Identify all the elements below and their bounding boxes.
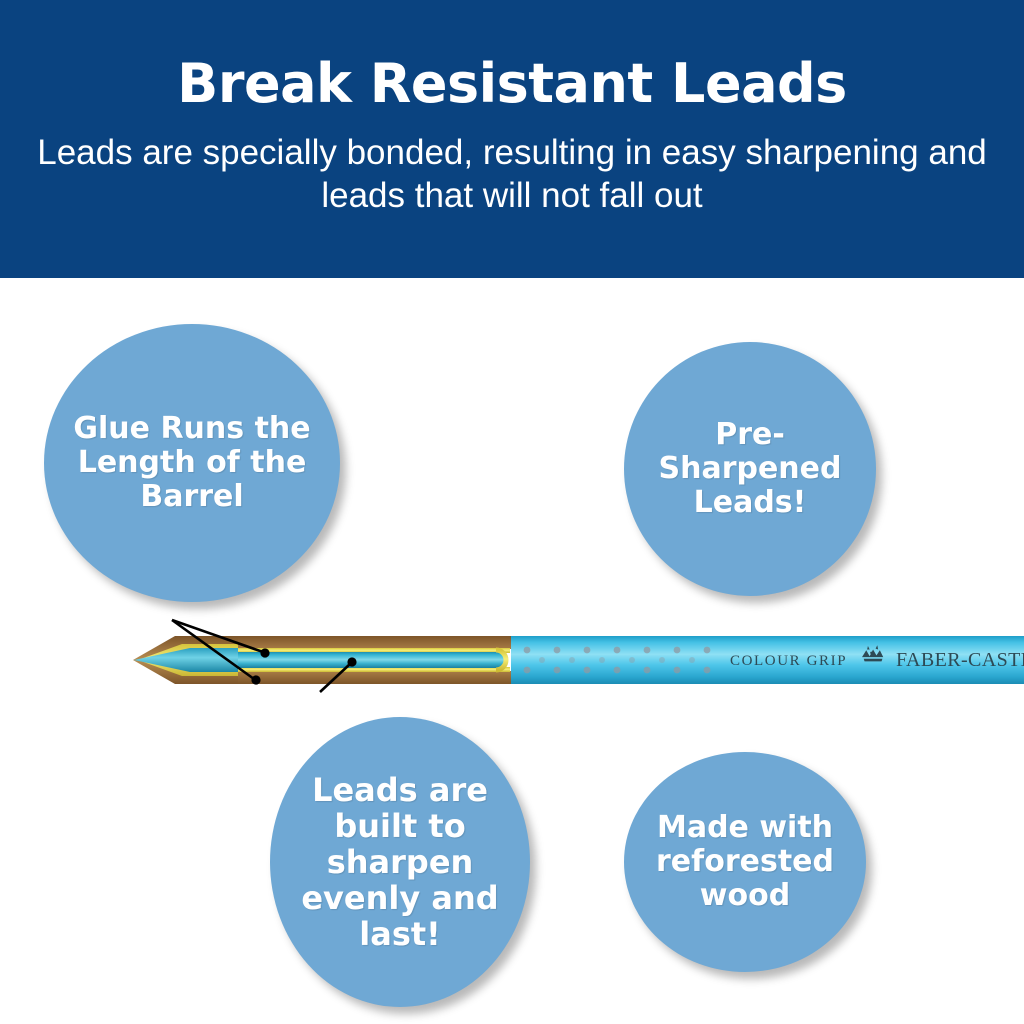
feature-bubble-pre-sharpened: Pre-Sharpened Leads! [624,342,876,596]
feature-bubble-label: Made with reforested wood [624,811,866,913]
page-title: Break Resistant Leads [177,56,847,113]
pencil-barrel-wood-bottom [238,671,513,684]
pencil-barrel-wood-top [238,636,513,649]
page-subtitle: Leads are specially bonded, resulting in… [22,131,1002,219]
infographic-root: Break Resistant Leads Leads are speciall… [0,0,1024,1024]
feature-bubble-sharpen-evenly: Leads are built to sharpen evenly and la… [270,717,530,1007]
feature-bubble-reforested-wood: Made with reforested wood [624,752,866,972]
pencil-brand-imprint: FABER-CASTELL [896,649,1024,671]
pencil-product-line-imprint: COLOUR GRIP [730,653,847,669]
feature-bubble-label: Leads are built to sharpen evenly and la… [270,772,530,953]
pencil-illustration: COLOUR GRIP FABER-CASTELL [0,600,1024,720]
feature-bubble-glue-runs-length: Glue Runs the Length of the Barrel [44,324,340,602]
feature-bubble-label: Glue Runs the Length of the Barrel [44,412,340,514]
header-banner: Break Resistant Leads Leads are speciall… [0,0,1024,278]
pencil-lead-core [238,652,505,668]
feature-bubble-label: Pre-Sharpened Leads! [624,418,876,520]
